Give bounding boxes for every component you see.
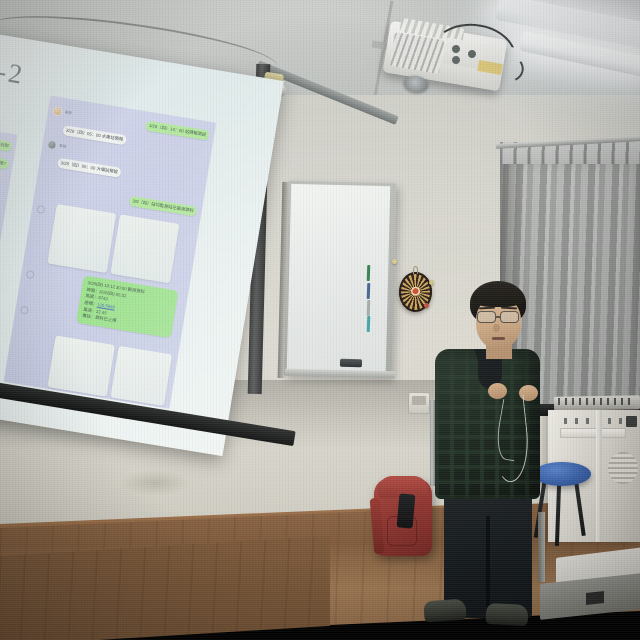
wall-pin-icon [429,280,434,285]
cabinet-front-panel [560,428,626,438]
cabinet-vent-grille [608,452,638,484]
info-card-label: 備註 [82,313,91,319]
gray-marker [367,300,371,316]
cabinet-edge [596,410,602,542]
info-card-label: 時間 [86,287,95,293]
classroom-photo: 流程-2 請問裝到那 可以嗎? 已經好了喔 00.dat [0,0,640,640]
chat-attachment-map-1 [47,204,116,273]
chat-attachment-map-4 [110,346,172,406]
info-card-label: 高度 [85,293,94,299]
cabinet-button-row[interactable] [564,418,622,424]
whiteboard-eraser [340,359,362,368]
person-mouth [492,337,505,340]
person-nose [493,324,500,332]
glasses-lens-right [500,311,519,323]
glasses-lens-left [477,311,496,323]
person-shoe-left [423,599,466,623]
chat-sender-nickname: 助理 [65,109,73,115]
backpack-pocket [387,516,417,546]
wall-junction-box-panel [412,396,426,405]
glasses-bridge [496,316,501,318]
chat-bubble: 3/28（四）14：00 站情報測試 [145,120,210,140]
clock-icon [36,205,45,214]
platform-notch [586,591,604,605]
keyboard-keys[interactable] [558,398,634,405]
chat-bubble: 3/8（四）站均監測站已量測資料 [129,196,198,217]
info-card-label: 座標 [84,300,93,306]
chat-sender-nickname: 助理 [59,143,67,149]
chat-avatar [52,106,62,116]
chat-bubble: 3/28（四）05：00 水庫站預報 [62,125,127,145]
clock-icon [20,306,29,315]
platform-leg [538,512,545,582]
wall-pin-icon [392,259,397,264]
dartboard-hook-icon [413,266,418,274]
map-thumbnail-icon [110,214,179,283]
chat-bubble: 3/28（四）05：00 大壩站預報 [57,158,122,178]
slide-chat-column-main: 助理 3/28（四）14：00 站情報測試 3/28（四）05：00 水庫站預報… [4,96,217,409]
person-shoe-right [485,603,528,626]
blue-stool [533,462,591,486]
chat-avatar [47,140,57,150]
map-thumbnail-icon [47,336,115,397]
teal-marker [367,316,371,332]
cabinet-power-switch[interactable] [626,416,637,427]
chat-info-card: 3/28(四) 18:12 30:00 觀測資料 時間：3/28(四) 05:5… [76,275,178,338]
chat-bubble: 可以嗎? [0,156,10,170]
map-thumbnail-icon [47,204,116,273]
chat-attachment-map-2 [110,214,179,283]
wall-smudge [120,470,190,496]
blue-marker [367,283,371,299]
clock-icon [26,270,35,279]
info-card-value: 8743 [98,295,108,301]
chat-attachment-map-3 [47,336,115,397]
dart-icon [424,303,429,308]
chat-bubble: 請問裝到那 [0,138,12,153]
person-leg-seam [486,516,490,618]
whiteboard [287,184,391,372]
slide-title: 流程-2 [0,40,27,92]
green-marker [367,265,371,281]
info-card-label: 風速 [83,306,92,312]
map-thumbnail-icon [110,346,172,406]
